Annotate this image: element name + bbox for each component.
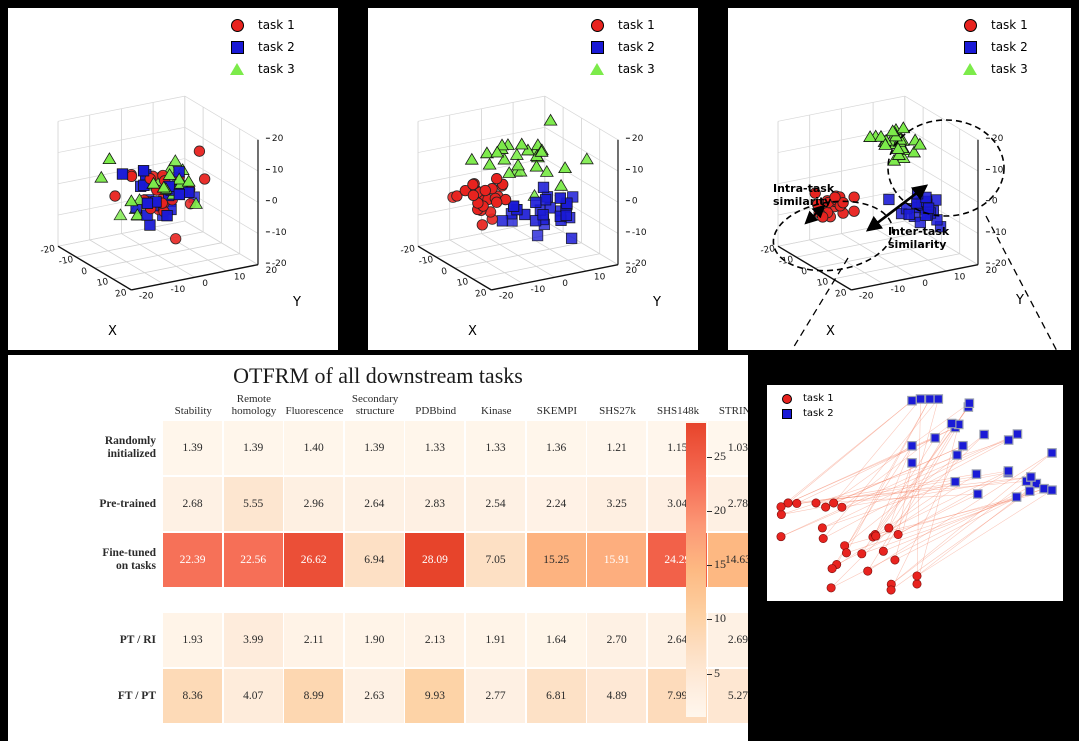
heatmap-cell: 1.90 — [345, 613, 404, 667]
legend-3d-2: task 1 task 2 task 3 — [584, 14, 694, 80]
heatmap-cell: 2.70 — [587, 613, 646, 667]
heatmap-cell: 2.83 — [405, 477, 464, 531]
square-marker-icon — [777, 409, 797, 419]
svg-text:20: 20 — [632, 134, 644, 144]
svg-text:10: 10 — [234, 273, 246, 283]
scatter-3d-panel-2: -20-100102020100-10-2020100-10-20 task 1… — [368, 8, 698, 350]
heatmap-cell: 1.64 — [527, 613, 586, 667]
axis-label-x: X — [468, 324, 477, 339]
heatmap-cell: 28.09 — [405, 533, 464, 587]
square-marker-icon — [957, 41, 983, 54]
heatmap-cell: 1.21 — [587, 421, 646, 475]
annotation-inter-task: Inter-task similarity — [888, 226, 949, 251]
legend-item-task1: task 1 — [224, 14, 334, 36]
svg-text:-10: -10 — [891, 285, 906, 295]
heatmap-column-header: SKEMPI — [523, 405, 592, 417]
matching-scatter-panel: task 1 task 2 — [767, 385, 1063, 601]
svg-text:-10: -10 — [272, 228, 287, 238]
svg-text:0: 0 — [922, 279, 928, 289]
heatmap-cell: 8.99 — [284, 669, 343, 723]
svg-text:10: 10 — [816, 277, 829, 289]
legend-item-task3: task 3 — [957, 58, 1067, 80]
circle-marker-icon — [957, 19, 983, 32]
svg-text:-20: -20 — [40, 244, 56, 256]
legend-item-task3: task 3 — [584, 58, 694, 80]
colorbar-tick-mark — [707, 619, 712, 620]
triangle-marker-icon — [224, 63, 250, 75]
svg-text:20: 20 — [474, 288, 487, 300]
legend-label: task 1 — [250, 18, 295, 32]
heatmap-cell: 1.33 — [466, 421, 525, 475]
colorbar-tick-label: 25 — [714, 449, 726, 464]
legend-label: task 2 — [610, 40, 655, 54]
legend-label: task 2 — [250, 40, 295, 54]
colorbar-tick-mark — [707, 457, 712, 458]
svg-text:10: 10 — [954, 273, 966, 283]
square-marker-icon — [584, 41, 610, 54]
heatmap-cell: 2.13 — [405, 613, 464, 667]
legend-label: task 1 — [797, 393, 834, 404]
svg-text:10: 10 — [96, 277, 109, 289]
heatmap-cell: 6.94 — [345, 533, 404, 587]
heatmap-cell: 5.55 — [224, 477, 283, 531]
svg-text:-10: -10 — [58, 255, 74, 267]
heatmap-cell: 6.81 — [527, 669, 586, 723]
annotation-intra-task: Intra-task similarity — [773, 183, 834, 208]
heatmap-title: OTFRM of all downstream tasks — [8, 363, 748, 389]
heatmap-cell: 2.77 — [466, 669, 525, 723]
heatmap-column-header: Remotehomology — [220, 393, 289, 418]
heatmap-column-header: SHS27k — [583, 405, 652, 417]
legend-label: task 2 — [983, 40, 1028, 54]
svg-text:-10: -10 — [632, 228, 647, 238]
heatmap-cell: 2.64 — [345, 477, 404, 531]
legend-label: task 1 — [610, 18, 655, 32]
svg-text:0: 0 — [202, 279, 208, 289]
heatmap-cell: 22.56 — [224, 533, 283, 587]
legend-label: task 3 — [983, 62, 1028, 76]
colorbar-tick-mark — [707, 565, 712, 566]
heatmap-column-header: Kinase — [462, 405, 531, 417]
svg-text:-20: -20 — [139, 291, 154, 301]
legend-item-task1: task 1 — [957, 14, 1067, 36]
legend-item-task2: task 2 — [957, 36, 1067, 58]
svg-text:-20: -20 — [272, 259, 287, 269]
svg-text:0: 0 — [441, 267, 449, 278]
heatmap-cell: 1.39 — [224, 421, 283, 475]
legend-item-task2: task 2 — [584, 36, 694, 58]
heatmap-column-header: Stability — [159, 405, 228, 417]
svg-text:10: 10 — [632, 165, 644, 175]
heatmap-cell: 1.36 — [527, 421, 586, 475]
heatmap-cell: 2.24 — [527, 477, 586, 531]
svg-text:20: 20 — [114, 288, 127, 300]
svg-text:-20: -20 — [632, 259, 647, 269]
annotation-inter-line2: similarity — [888, 239, 949, 252]
triangle-marker-icon — [957, 63, 983, 75]
heatmap-cell: 1.93 — [163, 613, 222, 667]
svg-text:-20: -20 — [760, 244, 776, 256]
circle-marker-icon — [584, 19, 610, 32]
legend-item-task2: task 2 — [224, 36, 334, 58]
colorbar-tick-label: 10 — [714, 611, 726, 626]
heatmap-cell: 1.33 — [405, 421, 464, 475]
svg-text:-10: -10 — [531, 285, 546, 295]
triangle-marker-icon — [584, 63, 610, 75]
svg-text:0: 0 — [632, 197, 638, 207]
axis-label-y: Y — [653, 295, 661, 310]
heatmap-column-header: PDBbind — [401, 405, 470, 417]
heatmap-cell: 26.62 — [284, 533, 343, 587]
heatmap-cell: 1.40 — [284, 421, 343, 475]
axis-label-y: Y — [293, 295, 301, 310]
colorbar-tick-mark — [707, 674, 712, 675]
scatter-3d-panel-3: -20-100102020100-10-2020100-10-20 task 1… — [728, 8, 1071, 350]
heatmap-column-header: Secondarystructure — [341, 393, 410, 418]
colorbar-gradient — [686, 423, 706, 717]
annotation-intra-line2: similarity — [773, 196, 834, 209]
colorbar-tick-label: 5 — [714, 666, 720, 681]
svg-text:0: 0 — [992, 197, 998, 207]
svg-text:20: 20 — [992, 134, 1004, 144]
legend-label: task 3 — [250, 62, 295, 76]
colorbar-tick-mark — [707, 511, 712, 512]
heatmap-column-header: Fluorescence — [280, 405, 349, 417]
svg-text:-10: -10 — [418, 255, 434, 267]
axis-label-x: X — [826, 324, 835, 339]
heatmap-cell: 2.11 — [284, 613, 343, 667]
legend-2d: task 1 task 2 — [777, 391, 834, 421]
annotation-inter-line1: Inter-task — [888, 226, 949, 239]
heatmap-cell: 15.25 — [527, 533, 586, 587]
heatmap-column-header: STRING — [704, 405, 748, 417]
axis-label-y: Y — [1016, 293, 1024, 308]
svg-text:10: 10 — [992, 165, 1004, 175]
svg-text:0: 0 — [272, 197, 278, 207]
legend-3d-1: task 1 task 2 task 3 — [224, 14, 334, 80]
svg-text:20: 20 — [272, 134, 284, 144]
square-marker-icon — [224, 41, 250, 54]
legend-label: task 3 — [610, 62, 655, 76]
annotation-intra-line1: Intra-task — [773, 183, 834, 196]
svg-text:10: 10 — [272, 165, 284, 175]
heatmap-cell: 7.05 — [466, 533, 525, 587]
legend-item-task1: task 1 — [777, 391, 834, 406]
svg-text:0: 0 — [81, 267, 89, 278]
heatmap-cell: 2.54 — [466, 477, 525, 531]
heatmap-cell: 2.96 — [284, 477, 343, 531]
svg-text:-10: -10 — [171, 285, 186, 295]
heatmap-panel: OTFRM of all downstream tasks StabilityR… — [8, 355, 748, 741]
heatmap-cell: 4.89 — [587, 669, 646, 723]
heatmap-cell: 1.39 — [345, 421, 404, 475]
heatmap-cell: 9.93 — [405, 669, 464, 723]
heatmap-column-header: SHS148k — [644, 405, 713, 417]
svg-text:0: 0 — [562, 279, 568, 289]
legend-item-task1: task 1 — [584, 14, 694, 36]
heatmap-cell: 1.91 — [466, 613, 525, 667]
heatmap-cell: 3.25 — [587, 477, 646, 531]
heatmap-row-label: Pre-trained — [14, 498, 156, 511]
axis-label-x: X — [108, 324, 117, 339]
heatmap-row-label: Randomlyinitialized — [14, 435, 156, 461]
circle-marker-icon — [224, 19, 250, 32]
svg-text:10: 10 — [594, 273, 606, 283]
colorbar-tick-label: 15 — [714, 557, 726, 572]
legend-label: task 1 — [983, 18, 1028, 32]
heatmap-cell: 2.63 — [345, 669, 404, 723]
legend-3d-3: task 1 task 2 task 3 — [957, 14, 1067, 80]
heatmap-cell: 15.91 — [587, 533, 646, 587]
scatter-3d-panel-1: -20-100102020100-10-2020100-10-20 task 1… — [8, 8, 338, 350]
legend-item-task2: task 2 — [777, 406, 834, 421]
heatmap-cell: 8.36 — [163, 669, 222, 723]
heatmap-cell: 4.07 — [224, 669, 283, 723]
heatmap-row-label: Fine-tunedon tasks — [14, 547, 156, 573]
svg-text:-20: -20 — [499, 291, 514, 301]
svg-text:20: 20 — [834, 288, 847, 300]
heatmap-cell: 3.99 — [224, 613, 283, 667]
heatmap-row-label: FT / PT — [14, 690, 156, 703]
heatmap-row-label: PT / RI — [14, 634, 156, 647]
heatmap-cell: 2.68 — [163, 477, 222, 531]
svg-text:-20: -20 — [992, 259, 1007, 269]
svg-text:10: 10 — [456, 277, 469, 289]
heatmap-cell: 22.39 — [163, 533, 222, 587]
svg-text:-20: -20 — [859, 291, 874, 301]
circle-marker-icon — [777, 394, 797, 404]
svg-text:-20: -20 — [400, 244, 416, 256]
colorbar-tick-label: 20 — [714, 503, 726, 518]
legend-label: task 2 — [797, 408, 834, 419]
heatmap-cell: 1.39 — [163, 421, 222, 475]
legend-item-task3: task 3 — [224, 58, 334, 80]
